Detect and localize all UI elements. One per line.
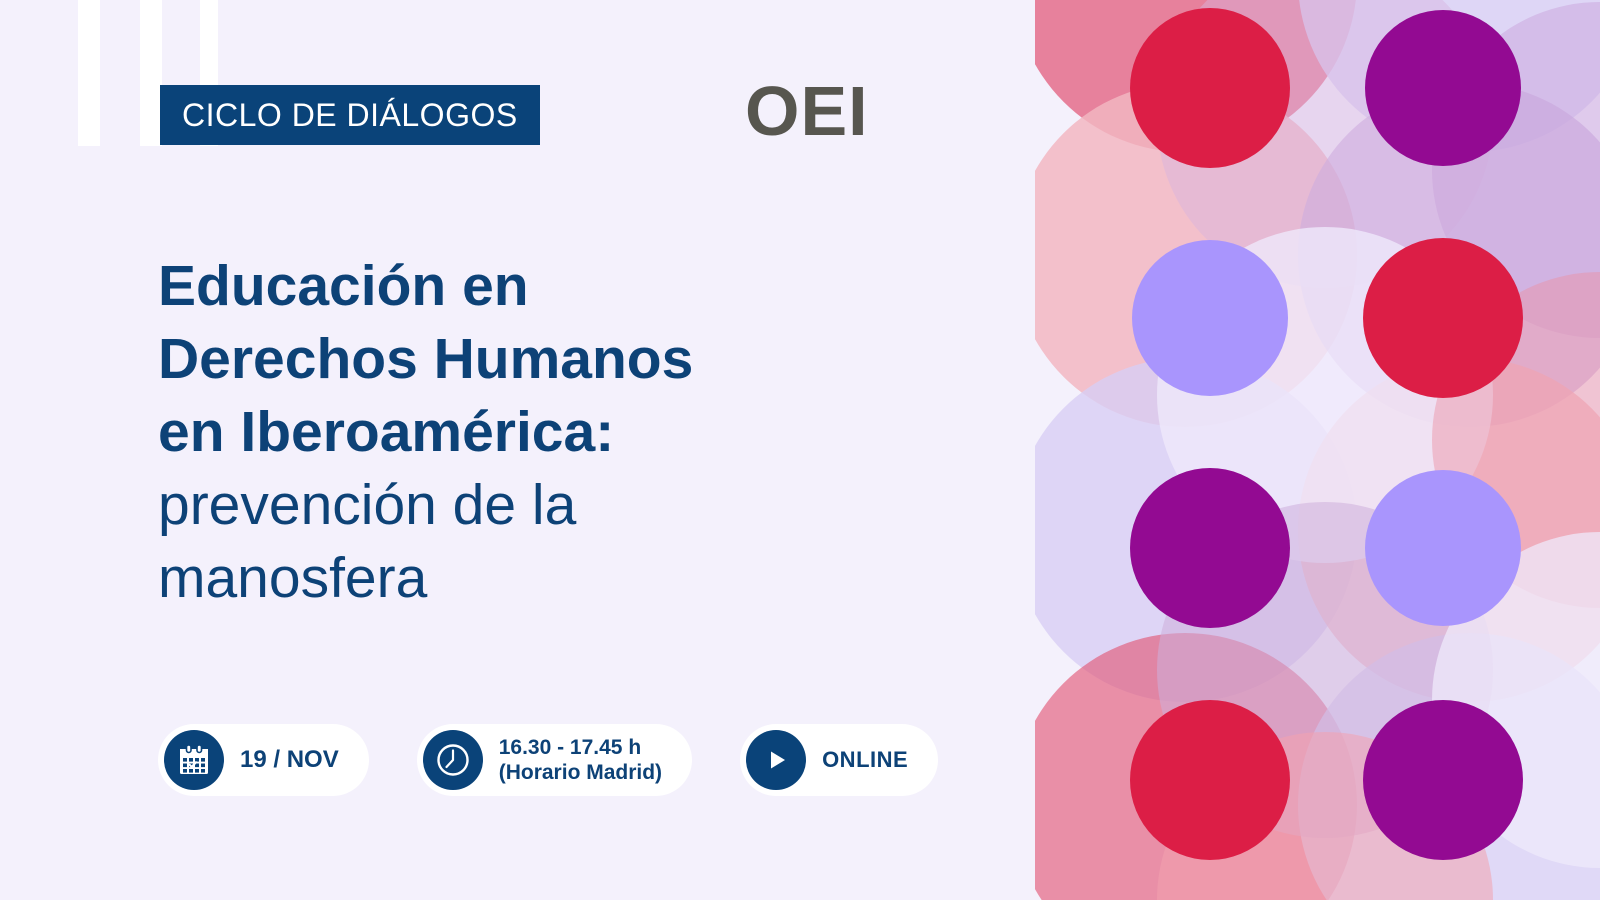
decorative-bar-1	[78, 0, 100, 146]
pill-date: 19 / NOV	[158, 724, 369, 796]
headline-bold-line-1: Educación en	[158, 250, 858, 323]
pill-time-label: 16.30 - 17.45 h (Horario Madrid)	[499, 735, 662, 785]
headline-light-line-1: prevención de la	[158, 469, 858, 542]
event-info-pills: 19 / NOV 16.30 - 17.45 h (Horario Madrid…	[158, 724, 938, 796]
play-icon	[746, 730, 806, 790]
oei-logo: OEI	[745, 76, 869, 146]
headline-bold-line-2: Derechos Humanos	[158, 323, 858, 396]
decorative-bar-2	[140, 0, 162, 146]
pill-time-line-2: (Horario Madrid)	[499, 760, 662, 785]
decorative-circle-pattern	[1035, 0, 1600, 900]
pill-date-label: 19 / NOV	[240, 746, 339, 775]
pill-time: 16.30 - 17.45 h (Horario Madrid)	[417, 724, 692, 796]
pill-time-line-1: 16.30 - 17.45 h	[499, 736, 641, 759]
clock-icon	[423, 730, 483, 790]
page-title: Educación en Derechos Humanos en Iberoam…	[158, 250, 858, 615]
poster-canvas: CICLO DE DIÁLOGOS OEI Educación en Derec…	[0, 0, 1600, 900]
circle-pattern-svg	[1035, 0, 1600, 900]
pill-online: ONLINE	[740, 724, 938, 796]
series-badge: CICLO DE DIÁLOGOS	[160, 85, 540, 145]
pill-online-label: ONLINE	[822, 747, 908, 773]
calendar-icon	[164, 730, 224, 790]
series-badge-label: CICLO DE DIÁLOGOS	[182, 99, 518, 131]
headline-bold-line-3: en Iberoamérica:	[158, 396, 858, 469]
headline-light-line-2: manosfera	[158, 542, 858, 615]
